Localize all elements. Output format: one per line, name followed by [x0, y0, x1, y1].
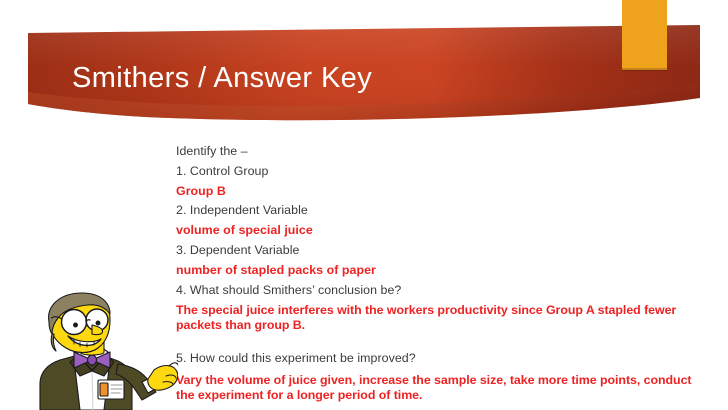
pupil-left — [74, 323, 78, 327]
slide-canvas: Smithers / Answer Key Identify the – 1. … — [0, 0, 728, 410]
body-line-q3: 3. Dependent Variable — [176, 241, 716, 261]
body-line-q2: 2. Independent Variable — [176, 201, 716, 221]
body-line-prompt: Identify the – — [176, 142, 716, 162]
body-line-a3: number of stapled packs of paper — [176, 261, 716, 281]
accent-rectangle — [622, 0, 667, 71]
answer-key-body: Identify the – 1. Control Group Group B … — [176, 142, 716, 403]
body-line-a2: volume of special juice — [176, 221, 716, 241]
body-line-q1: 1. Control Group — [176, 162, 716, 182]
id-badge — [98, 380, 124, 399]
smithers-cartoon-image — [6, 292, 178, 410]
body-line-a1: Group B — [176, 182, 716, 202]
body-line-a4: The special juice interferes with the wo… — [176, 303, 708, 333]
page-title: Smithers / Answer Key — [72, 58, 612, 102]
body-line-q5: 5. How could this experiment be improved… — [176, 349, 716, 369]
body-line-a5: Vary the volume of juice given, increase… — [176, 373, 708, 403]
pupil-right — [96, 321, 100, 325]
page-title-text: Smithers / Answer Key — [72, 58, 612, 98]
hand — [148, 363, 178, 390]
body-line-q4: 4. What should Smithers’ conclusion be? — [176, 281, 716, 301]
